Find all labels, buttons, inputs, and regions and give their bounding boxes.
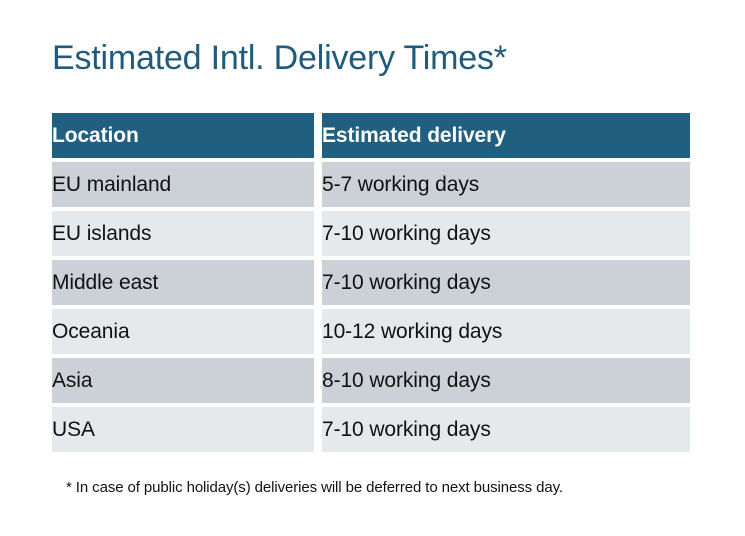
column-divider	[314, 260, 322, 305]
cell-estimated-delivery: 7-10 working days	[322, 407, 690, 452]
table-row: EU mainland 5-7 working days	[52, 162, 690, 207]
column-header-location: Location	[52, 113, 314, 158]
delivery-times-table: Location Estimated delivery EU mainland …	[52, 113, 690, 452]
column-divider	[314, 407, 322, 452]
table-row: Oceania 10-12 working days	[52, 309, 690, 354]
delivery-times-page: Estimated Intl. Delivery Times* Location…	[0, 0, 745, 536]
cell-estimated-delivery: 5-7 working days	[322, 162, 690, 207]
cell-location: EU islands	[52, 211, 314, 256]
table-row: EU islands 7-10 working days	[52, 211, 690, 256]
column-divider	[314, 358, 322, 403]
cell-location: Middle east	[52, 260, 314, 305]
table-body: EU mainland 5-7 working days EU islands …	[52, 158, 690, 452]
cell-estimated-delivery: 7-10 working days	[322, 211, 690, 256]
cell-estimated-delivery: 7-10 working days	[322, 260, 690, 305]
table-header-row: Location Estimated delivery	[52, 113, 690, 158]
cell-location: EU mainland	[52, 162, 314, 207]
cell-location: USA	[52, 407, 314, 452]
cell-location: Oceania	[52, 309, 314, 354]
page-title: Estimated Intl. Delivery Times*	[52, 36, 507, 80]
column-header-estimated-delivery: Estimated delivery	[322, 113, 690, 158]
table-header: Location Estimated delivery	[52, 113, 690, 158]
column-divider	[314, 113, 322, 158]
column-divider	[314, 211, 322, 256]
table-row: Asia 8-10 working days	[52, 358, 690, 403]
table-row: Middle east 7-10 working days	[52, 260, 690, 305]
cell-location: Asia	[52, 358, 314, 403]
table-row: USA 7-10 working days	[52, 407, 690, 452]
column-divider	[314, 162, 322, 207]
footnote-text: * In case of public holiday(s) deliverie…	[66, 479, 563, 496]
cell-estimated-delivery: 8-10 working days	[322, 358, 690, 403]
cell-estimated-delivery: 10-12 working days	[322, 309, 690, 354]
column-divider	[314, 309, 322, 354]
